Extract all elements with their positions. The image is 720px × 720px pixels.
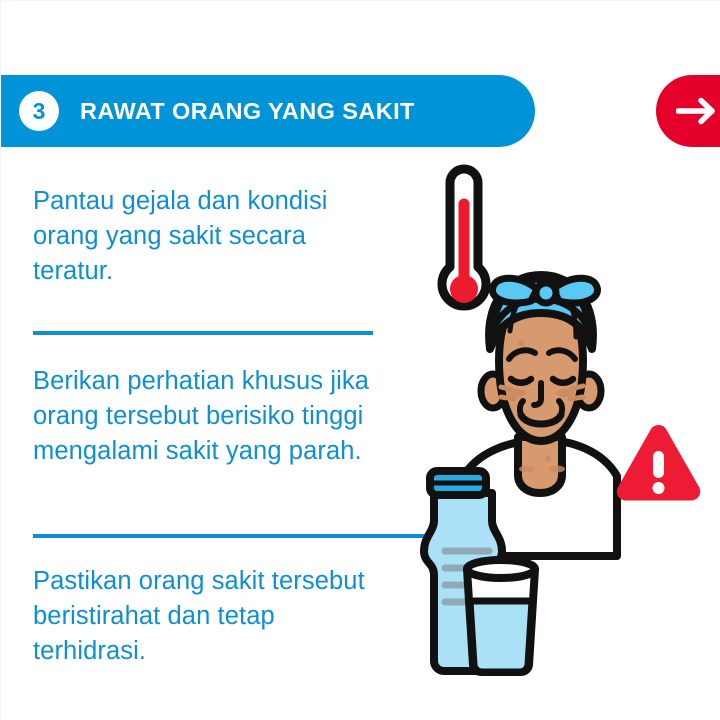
arrow-right-icon — [676, 94, 720, 128]
water-bottle-illustration — [424, 471, 502, 671]
headscarf-bow — [492, 278, 597, 303]
next-button[interactable] — [656, 75, 720, 147]
tip-text-1: Pantau gejala dan kondisi orang yang sak… — [33, 184, 393, 289]
step-number-badge: 3 — [19, 91, 59, 131]
elderly-woman-illustration — [463, 275, 617, 556]
warning-triangle-icon — [617, 425, 700, 501]
divider-line-1 — [33, 331, 373, 335]
thermometer-icon — [442, 169, 486, 306]
tip-text-2: Berikan perhatian khusus jika orang ters… — [33, 364, 393, 469]
step-number-label: 3 — [33, 100, 46, 123]
page-title: RAWAT ORANG YANG SAKIT — [80, 98, 415, 125]
water-glass-illustration — [467, 560, 535, 672]
infographic-card: 3 RAWAT ORANG YANG SAKIT Pantau gejala d… — [0, 0, 720, 720]
tip-text-3: Pastikan orang sakit tersebut beristirah… — [33, 564, 393, 669]
step-header-banner: 3 RAWAT ORANG YANG SAKIT — [1, 75, 535, 147]
divider-line-2 — [33, 534, 446, 538]
